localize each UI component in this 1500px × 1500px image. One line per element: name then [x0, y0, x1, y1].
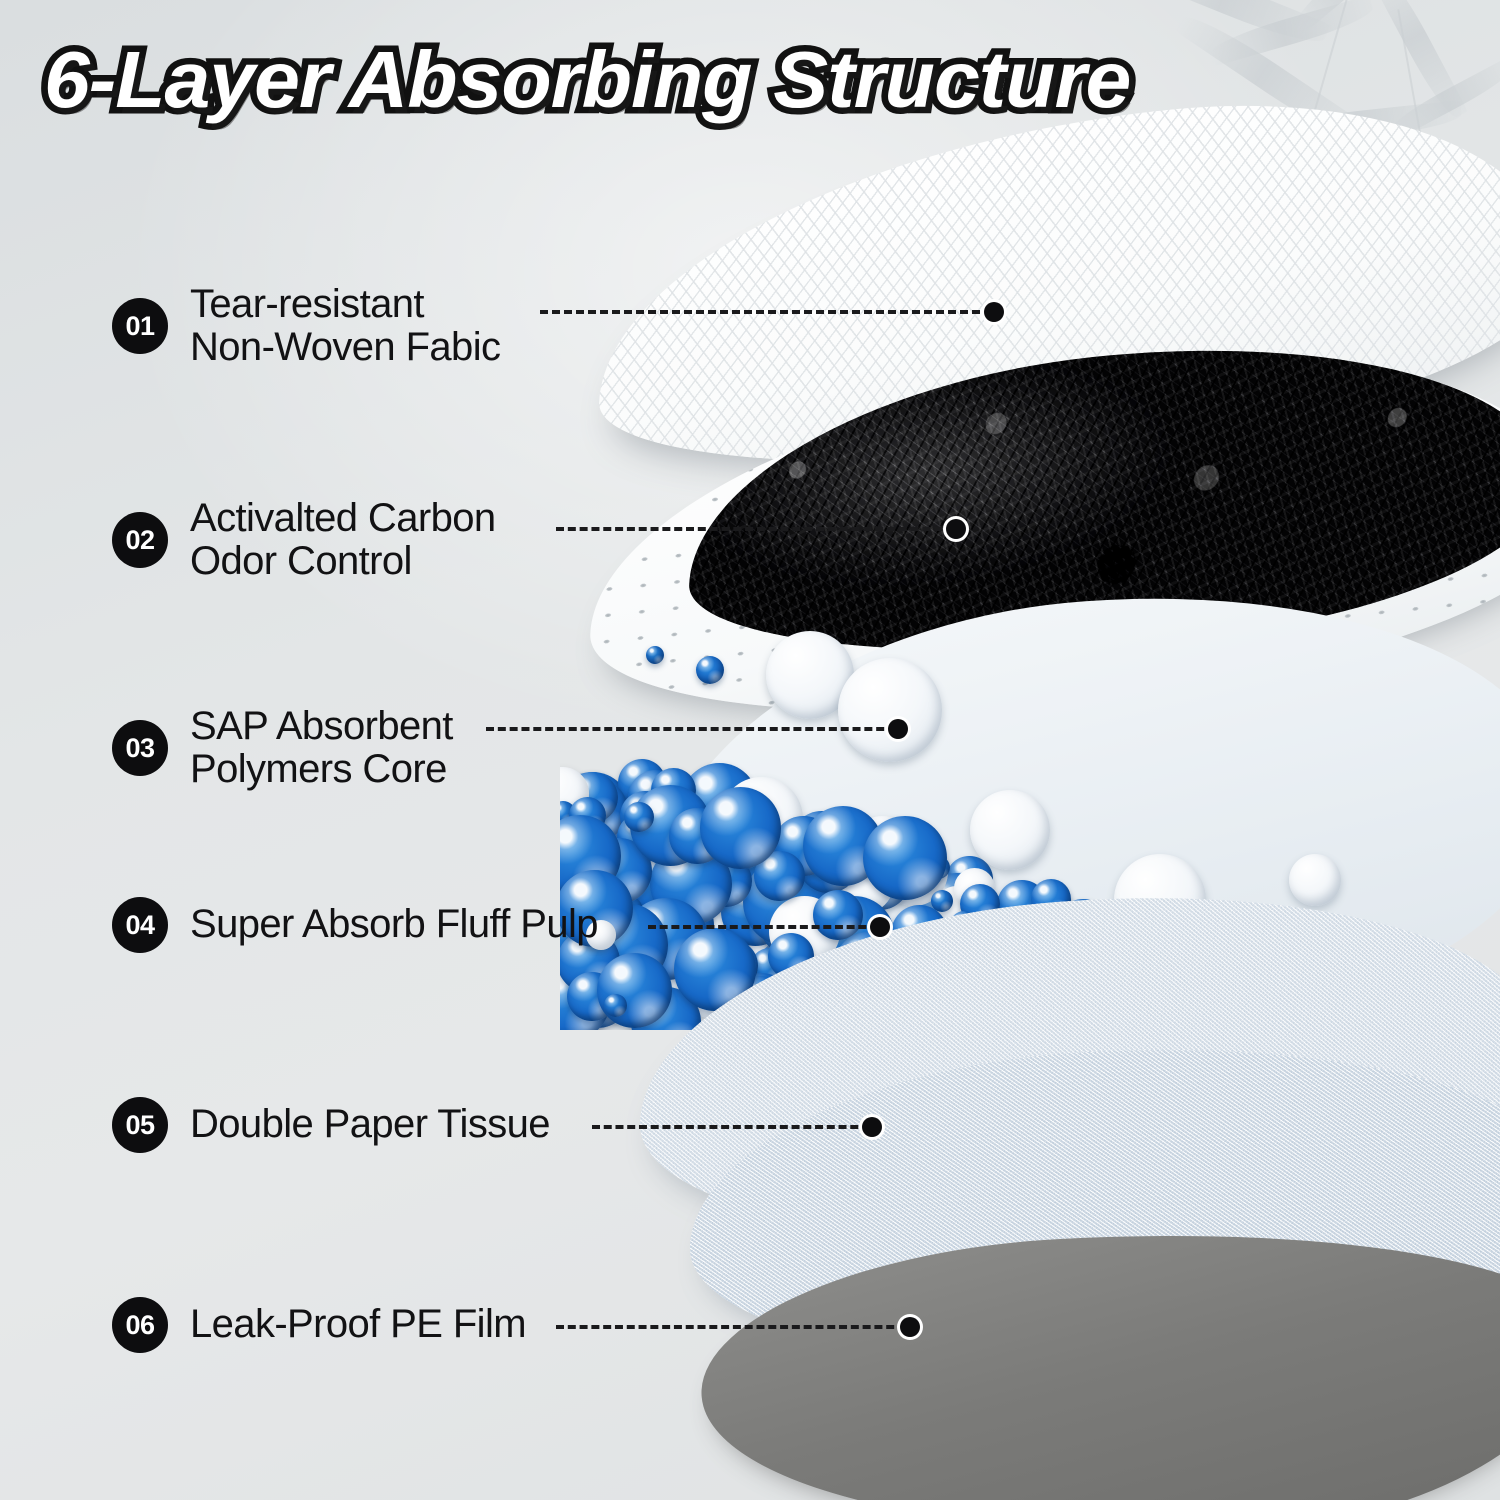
sap-bead-white: [970, 790, 1050, 870]
sap-bead-blue: [887, 915, 972, 1000]
sap-bead-blue: [722, 816, 787, 881]
sap-bead-blue: [611, 895, 643, 927]
sap-bead-blue: [813, 890, 863, 940]
sap-bead-blue: [1211, 948, 1238, 975]
sap-bead-blue: [696, 656, 724, 684]
sap-bead-blue: [775, 866, 839, 930]
sap-bead-blue: [569, 797, 606, 834]
sap-bead-blue: [813, 896, 895, 978]
sap-bead-blue: [768, 933, 814, 979]
sap-bead-blue: [1108, 910, 1146, 948]
sap-bead-blue: [560, 772, 631, 849]
sap-bead-blue: [1164, 963, 1226, 1025]
sap-bead-blue: [750, 979, 802, 1030]
sap-bead-blue: [812, 978, 874, 1030]
sap-bead-blue: [1023, 948, 1089, 1014]
sap-bead-blue: [1063, 945, 1102, 984]
sap-bead-blue: [642, 793, 689, 840]
layer-image-pe-film: [693, 1211, 1500, 1500]
page-title: 6-Layer Absorbing Structure: [44, 38, 1424, 122]
sap-bead-blue: [1065, 959, 1109, 1003]
sap-bead-blue: [567, 972, 617, 1022]
sap-bead-blue: [907, 858, 940, 891]
sap-bead-blue: [1153, 943, 1183, 973]
layer-number-badge: 03: [112, 720, 168, 776]
leader-dot-sap-polymer-core: [888, 719, 908, 739]
layer-number-badge: 06: [112, 1297, 168, 1353]
leader-line-non-woven-fabric: [540, 310, 992, 314]
sap-bead-blue: [721, 877, 790, 946]
sap-bead-blue: [1108, 973, 1164, 1029]
sap-bead-white: [766, 631, 854, 719]
sap-bead-blue: [648, 795, 696, 843]
layer-number-badge: 05: [112, 1097, 168, 1153]
sap-bead-blue: [1405, 1012, 1438, 1030]
sap-bead-blue: [1074, 959, 1150, 1030]
sap-bead-white: [1216, 941, 1284, 1009]
layer-image-sap-polymer-core: [560, 580, 1500, 1030]
sap-bead-blue: [921, 960, 984, 1023]
layer-image-sap-base: [650, 567, 1500, 1062]
sap-bead-blue: [669, 808, 725, 864]
layer-number-badge: 01: [112, 298, 168, 354]
sap-bead-blue: [576, 841, 597, 862]
sap-bead-blue: [1055, 899, 1112, 956]
sap-bead-blue: [567, 772, 618, 823]
sap-bead-white: [1114, 854, 1206, 946]
sap-bead-blue: [963, 968, 1017, 1022]
product-infographic: 6-Layer Absorbing Structure 01Tear-resis…: [0, 0, 1500, 1500]
sap-bead-blue: [1059, 942, 1141, 1024]
sap-bead-blue: [1105, 915, 1137, 947]
sap-bead-white: [560, 767, 589, 820]
sap-bead-blue: [1093, 984, 1136, 1027]
sap-bead-blue: [650, 843, 732, 925]
sap-bead-blue: [700, 787, 782, 869]
sap-bead-blue: [646, 646, 664, 664]
sap-bead-blue: [700, 855, 752, 907]
sap-bead-blue: [560, 815, 621, 897]
sap-bead-blue: [821, 978, 853, 1010]
layer-image-double-paper-tissue: [682, 1026, 1500, 1393]
sap-bead-blue: [798, 833, 859, 894]
layer-label: Activalted Carbon Odor Control: [190, 497, 496, 583]
sap-bead-blue: [850, 850, 910, 910]
sap-bead-blue: [1099, 912, 1158, 971]
layer-number-badge: 02: [112, 512, 168, 568]
sap-bead-blue: [1202, 962, 1283, 1030]
sap-bead-blue: [931, 942, 1012, 1023]
callout-sap-polymer-core: 03SAP Absorbent Polymers Core: [112, 705, 453, 791]
sap-bead-white: [936, 886, 978, 928]
callout-activated-carbon: 02Activalted Carbon Odor Control: [112, 497, 496, 583]
sap-bead-white: [851, 816, 914, 879]
sap-bead-blue: [598, 781, 657, 840]
sap-bead-blue: [1331, 989, 1363, 1021]
sap-bead-blue: [1093, 978, 1163, 1030]
callout-fluff-pulp: 04Super Absorb Fluff Pulp: [112, 897, 598, 953]
sap-bead-blue: [625, 898, 707, 980]
sap-bead-blue: [560, 963, 610, 1030]
sap-bead-blue: [1183, 926, 1237, 980]
sap-bead-blue: [1144, 1011, 1172, 1030]
layer-label: Tear-resistant Non-Woven Fabic: [190, 283, 500, 369]
sap-bead-blue: [835, 932, 901, 998]
sap-bead-white: [674, 858, 730, 914]
sap-bead-blue: [773, 924, 820, 971]
sap-bead-blue: [1141, 923, 1186, 968]
leader-dot-activated-carbon: [946, 519, 966, 539]
sap-bead-blue: [734, 816, 814, 896]
sap-bead-white: [1247, 951, 1302, 1006]
sap-bead-blue: [941, 872, 975, 906]
sap-bead-blue: [773, 816, 833, 876]
sap-bead-blue: [560, 817, 612, 872]
sap-bead-blue: [992, 938, 1061, 1007]
sap-bead-blue: [631, 987, 701, 1030]
sap-bead-white: [720, 777, 803, 860]
sap-bead-blue: [1091, 953, 1161, 1023]
sap-bead-blue: [997, 880, 1046, 929]
leader-line-double-paper-tissue: [592, 1125, 870, 1129]
sap-bead-blue: [651, 768, 696, 813]
sap-bead-blue: [1233, 954, 1286, 1007]
sap-bead-blue: [927, 856, 950, 879]
sap-bead-blue: [791, 811, 852, 872]
sap-bead-blue: [597, 953, 671, 1027]
sap-bead-white: [879, 837, 948, 906]
sap-bead-blue: [825, 919, 911, 1005]
sap-bead-blue: [566, 779, 628, 841]
sap-bead-blue: [761, 906, 807, 952]
sap-bead-blue: [624, 842, 698, 916]
sap-bead-blue: [915, 873, 999, 957]
sap-bead-blue: [606, 965, 627, 986]
sap-bead-blue: [851, 871, 885, 905]
sap-bead-blue: [560, 801, 576, 827]
sap-bead-blue: [1260, 964, 1289, 993]
layer-label: Double Paper Tissue: [190, 1103, 550, 1146]
leader-line-activated-carbon: [556, 527, 954, 531]
leader-dot-pe-film: [900, 1317, 920, 1337]
leader-line-sap-polymer-core: [486, 727, 896, 731]
layer-label: Leak-Proof PE Film: [190, 1303, 526, 1346]
sap-bead-blue: [606, 905, 656, 955]
sap-bead-white: [769, 896, 840, 967]
sap-bead-blue: [966, 932, 1025, 991]
sap-bead-blue: [1264, 972, 1341, 1030]
sap-bead-blue: [674, 928, 757, 1011]
sap-bead-blue: [1033, 947, 1099, 1013]
sap-bead-blue: [1260, 983, 1328, 1030]
layer-image-activated-carbon: [684, 316, 1500, 683]
sap-bead-blue: [754, 851, 805, 902]
sap-bead-white: [863, 932, 911, 980]
sap-bead-blue: [664, 808, 742, 886]
leader-dot-fluff-pulp: [870, 917, 890, 937]
sap-bead-blue: [715, 955, 771, 1011]
sap-bead-blue: [604, 994, 626, 1016]
sap-bead-blue: [1211, 965, 1238, 992]
sap-bead-blue: [1185, 966, 1222, 1003]
layer-label: SAP Absorbent Polymers Core: [190, 705, 453, 791]
sap-bead-blue: [952, 919, 1016, 983]
sap-bead-blue: [1108, 928, 1187, 1007]
sap-bead-white: [1289, 854, 1341, 906]
sap-bead-blue: [648, 854, 696, 902]
layer-image-perforated-sheet: [584, 316, 1500, 753]
sap-bead-blue: [978, 977, 1045, 1030]
sap-bead-blue: [697, 798, 772, 873]
sap-bead-blue: [1379, 993, 1451, 1030]
sap-bead-blue: [1158, 933, 1219, 994]
sap-bead-blue: [1096, 954, 1144, 1002]
sap-bead-white: [831, 851, 894, 914]
leader-line-fluff-pulp: [648, 925, 878, 929]
sap-bead-blue: [905, 976, 992, 1030]
sap-bead-blue: [891, 905, 949, 963]
sap-bead-blue: [755, 983, 800, 1028]
sap-bead-blue: [1034, 901, 1077, 944]
callout-non-woven-fabric: 01Tear-resistant Non-Woven Fabic: [112, 283, 500, 369]
sap-bead-blue: [863, 816, 947, 900]
sap-bead-blue: [950, 911, 979, 940]
bamboo-leaf: [1288, 0, 1418, 35]
sap-bead-blue: [648, 803, 670, 825]
sap-bead-blue: [568, 967, 629, 1028]
sap-bead-blue: [560, 791, 628, 861]
sap-bead-blue: [707, 940, 758, 991]
sap-bead-blue: [628, 770, 683, 825]
sap-bead-blue: [586, 838, 652, 904]
sap-bead-blue: [750, 948, 789, 987]
sap-bead-blue: [620, 791, 670, 841]
sap-bead-blue: [615, 959, 651, 995]
sap-bead-blue: [743, 858, 831, 946]
sap-bead-blue: [1018, 989, 1058, 1029]
layer-number-badge: 04: [112, 897, 168, 953]
sap-bead-blue: [630, 785, 711, 866]
sap-bead-blue: [624, 802, 654, 832]
sap-bead-blue: [618, 759, 666, 807]
sap-bead-blue: [753, 937, 833, 1017]
sap-bead-blue: [1261, 981, 1316, 1030]
sap-bead-blue: [779, 868, 824, 913]
sap-bead-blue: [1163, 983, 1189, 1009]
sap-bead-white: [680, 955, 743, 1018]
sap-bead-blue: [803, 806, 883, 886]
sap-bead-blue: [1201, 978, 1264, 1030]
sap-bead-blue: [1350, 992, 1417, 1030]
sap-bead-blue: [1045, 887, 1070, 912]
sap-bead-blue: [1034, 946, 1108, 1020]
bamboo-leaf: [1361, 113, 1460, 219]
sap-bead-blue: [1146, 997, 1184, 1030]
sap-bead-white: [838, 658, 942, 762]
sap-bead-blue: [960, 884, 1000, 924]
layer-label: Super Absorb Fluff Pulp: [190, 903, 598, 946]
sap-bead-blue: [989, 1009, 1011, 1030]
sap-bead-blue: [681, 763, 758, 840]
sap-bead-white: [740, 930, 822, 1012]
sap-bead-blue: [718, 973, 803, 1030]
sap-bead-blue: [1079, 936, 1156, 1013]
sap-bead-blue: [674, 802, 699, 827]
sap-bead-blue: [1267, 946, 1343, 1022]
sap-bead-blue: [571, 948, 637, 1014]
sap-bead-blue: [685, 944, 724, 983]
leader-line-pe-film: [556, 1325, 906, 1329]
sap-bead-blue: [645, 908, 699, 962]
sap-bead-blue: [819, 956, 871, 1008]
sap-bead-blue: [978, 915, 1022, 959]
leader-dot-non-woven-fabric: [984, 302, 1004, 322]
sap-bead-blue: [997, 985, 1078, 1030]
sap-bead-blue: [814, 840, 888, 914]
sap-bead-blue: [931, 890, 953, 912]
sap-bead-blue: [732, 976, 791, 1030]
layer-image-non-woven-fabric: [594, 68, 1500, 502]
sap-bead-blue: [1031, 879, 1072, 920]
sap-bead-blue: [946, 856, 993, 903]
callout-pe-film: 06Leak-Proof PE Film: [112, 1297, 526, 1353]
sap-bead-blue: [1040, 991, 1070, 1021]
sap-bead-white: [954, 868, 996, 910]
callout-double-paper-tissue: 05Double Paper Tissue: [112, 1097, 550, 1153]
sap-bead-blue: [745, 1001, 778, 1030]
sap-bead-white: [615, 925, 698, 1008]
sap-bead-blue: [976, 966, 1042, 1030]
sap-bead-white: [1163, 929, 1233, 999]
sap-bead-blue: [1036, 991, 1111, 1030]
sap-bead-blue: [617, 813, 666, 862]
leader-dot-double-paper-tissue: [862, 1117, 882, 1137]
